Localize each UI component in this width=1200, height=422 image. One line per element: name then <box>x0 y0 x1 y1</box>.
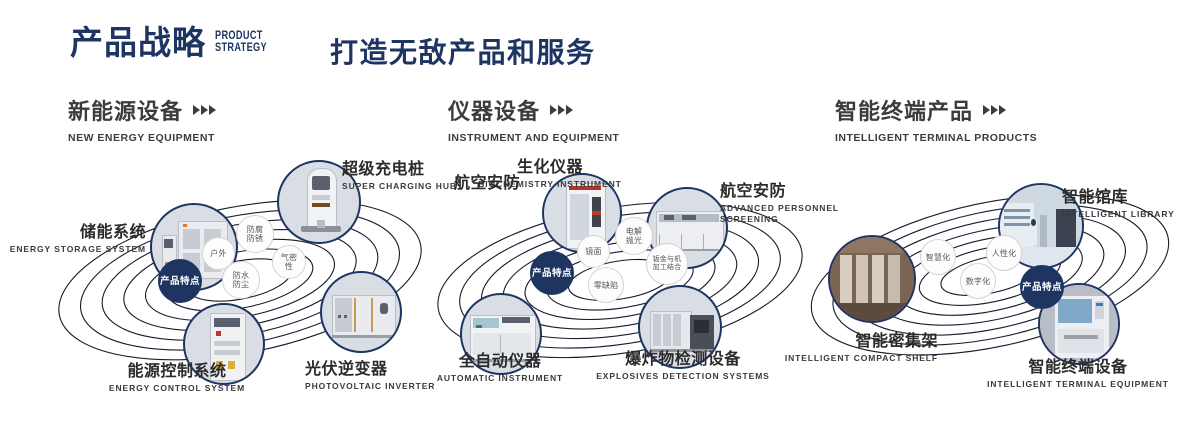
node-intelligent-compact-shelf[interactable] <box>828 235 916 323</box>
feature-bubble-digital[interactable]: 数字化 <box>960 263 996 299</box>
label-energy-storage-system: 储能系统 ENERGY STORAGE SYSTEM <box>0 218 146 255</box>
section-subtitle-new-energy: NEW ENERGY EQUIPMENT <box>68 132 216 144</box>
compact-shelving-icon <box>830 237 914 321</box>
core-bubble-product-features[interactable]: 产品特点 <box>1020 265 1064 309</box>
page-header: 产品战略 PRODUCT STRATEGY <box>70 26 280 59</box>
product-strategy-infographic: 产品战略 PRODUCT STRATEGY 打造无敌产品和服务 新能源设备 NE… <box>0 0 1200 422</box>
core-bubble-product-features[interactable]: 产品特点 <box>158 259 202 303</box>
page-title: 产品战略 <box>70 26 206 59</box>
label-energy-control-system: 能源控制系统 ENERGY CONTROL SYSTEM <box>62 357 292 393</box>
label-automatic-instrument: 全自动仪器 AUTOMATIC INSTRUMENT <box>410 347 590 383</box>
pv-inverter-cabinet-icon <box>322 273 400 351</box>
section-subtitle-instrument: INSTRUMENT AND EQUIPMENT <box>448 132 619 144</box>
page-title-english-line1: PRODUCT <box>215 31 267 43</box>
label-aviation-security: 航空安防 <box>390 169 520 193</box>
page-slogan: 打造无敌产品和服务 <box>330 31 596 71</box>
section-subtitle-intelligent-terminal: INTELLIGENT TERMINAL PRODUCTS <box>835 132 1037 144</box>
label-intelligent-terminal-equipment: 智能终端设备 INTELLIGENT TERMINAL EQUIPMENT <box>978 353 1178 389</box>
page-title-english-line2: STRATEGY <box>215 43 267 55</box>
feature-bubble-airtight[interactable]: 气密性 <box>272 245 306 279</box>
section-header-intelligent-terminal: 智能终端产品 INTELLIGENT TERMINAL PRODUCTS <box>835 94 1037 144</box>
page-title-english: PRODUCT STRATEGY <box>215 31 267 54</box>
feature-bubble-sheetmetal-machining[interactable]: 钣金与机加工结合 <box>646 243 688 285</box>
cluster-intelligent-terminal: 智能馆库 INTELLIGENT LIBRARY 智能密集架 INTELLIGE… <box>800 155 1200 405</box>
section-title-intelligent-terminal: 智能终端产品 <box>835 94 973 126</box>
chevron-right-icon <box>193 105 216 115</box>
chevron-right-icon <box>550 105 573 115</box>
core-bubble-product-features[interactable]: 产品特点 <box>530 251 574 295</box>
feature-bubble-mirror-finish[interactable]: 镜面 <box>577 235 610 268</box>
feature-bubble-waterproof[interactable]: 防水防尘 <box>222 261 260 299</box>
cluster-new-energy: 储能系统 ENERGY STORAGE SYSTEM 超级充电桩 SUPER C… <box>40 155 440 405</box>
feature-bubble-zero-defect[interactable]: 零缺陷 <box>588 267 624 303</box>
cluster-instrument: 生化仪器 BIOCHEMISTRY INSTRUMENT 航空安防 航空安防 A… <box>420 155 820 405</box>
section-title-new-energy: 新能源设备 <box>68 94 183 126</box>
feature-bubble-anticorrosion[interactable]: 防腐防锈 <box>236 215 274 253</box>
label-intelligent-compact-shelf: 智能密集架 INTELLIGENT COMPACT SHELF <box>708 327 938 364</box>
feature-bubble-humanized[interactable]: 人性化 <box>986 235 1022 271</box>
section-header-instrument: 仪器设备 INSTRUMENT AND EQUIPMENT <box>448 94 619 144</box>
node-photovoltaic-inverter[interactable] <box>320 271 402 353</box>
chevron-right-icon <box>983 105 1006 115</box>
section-title-instrument: 仪器设备 <box>448 94 540 126</box>
label-intelligent-library: 智能馆库 INTELLIGENT LIBRARY <box>1062 183 1175 219</box>
feature-bubble-electropolishing[interactable]: 电解抛光 <box>615 217 653 255</box>
section-header-new-energy: 新能源设备 NEW ENERGY EQUIPMENT <box>68 94 216 144</box>
feature-bubble-smart[interactable]: 智慧化 <box>920 239 956 275</box>
